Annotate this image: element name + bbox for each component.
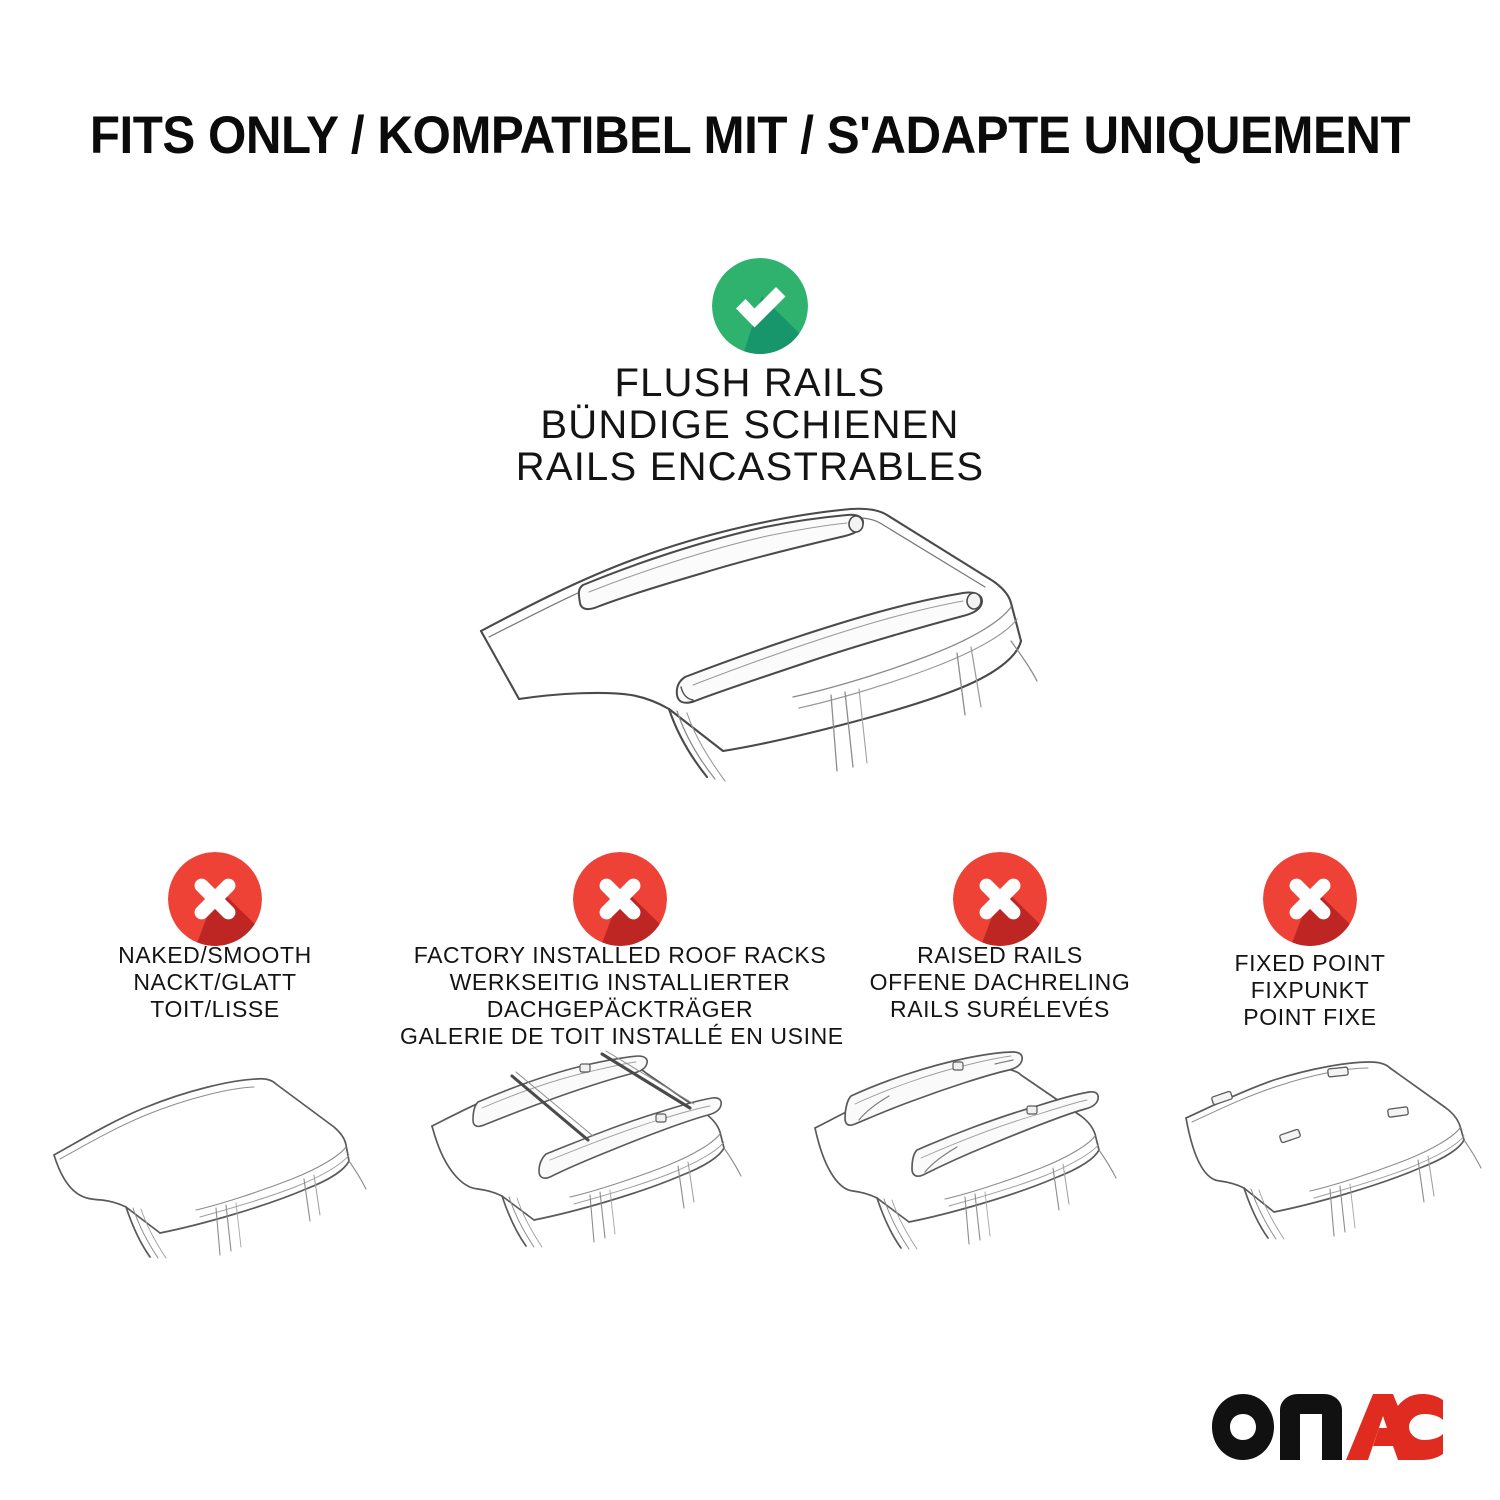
compatible-line-en: FLUSH RAILS xyxy=(0,362,1500,404)
incompatible-caption-3: FIXED POINT FIXPUNKT POINT FIXE xyxy=(1140,950,1480,1031)
caption-line: RAILS SURÉLEVÉS xyxy=(825,996,1175,1023)
caption-line: FACTORY INSTALLED ROOF RACKS xyxy=(400,942,840,969)
car-roof-factory-roof-racks-illustration xyxy=(428,1050,788,1270)
cross-mark-icon xyxy=(953,852,1047,946)
caption-line: RAISED RAILS xyxy=(825,942,1175,969)
car-roof-naked-smooth-illustration xyxy=(48,1055,398,1270)
incompatible-caption-0: NAKED/SMOOTH NACKT/GLATT TOIT/LISSE xyxy=(35,942,395,1023)
incompatible-caption-1: FACTORY INSTALLED ROOF RACKS WERKSEITIG … xyxy=(400,942,840,1050)
incompatible-caption-2: RAISED RAILS OFFENE DACHRELING RAILS SUR… xyxy=(825,942,1175,1023)
caption-line: FIXED POINT xyxy=(1140,950,1480,977)
caption-line: POINT FIXE xyxy=(1140,1004,1480,1031)
cross-mark-icon xyxy=(168,852,262,946)
check-mark-icon xyxy=(712,258,808,354)
logo-letter-o xyxy=(1212,1394,1274,1460)
caption-line: TOIT/LISSE xyxy=(35,996,395,1023)
compatible-line-fr: RAILS ENCASTRABLES xyxy=(0,446,1500,488)
check-glyph xyxy=(712,258,808,354)
cross-mark-icon xyxy=(1263,852,1357,946)
caption-line: DACHGEPÄCKTRÄGER xyxy=(400,996,840,1023)
caption-line: NACKT/GLATT xyxy=(35,969,395,996)
cross-mark-icon xyxy=(573,852,667,946)
cross-glyph xyxy=(168,852,262,946)
omac-logo xyxy=(1210,1390,1445,1462)
cross-glyph xyxy=(953,852,1047,946)
car-roof-flush-rails-illustration xyxy=(455,495,1075,795)
caption-line: NAKED/SMOOTH xyxy=(35,942,395,969)
logo-letter-m xyxy=(1280,1394,1342,1460)
cross-glyph xyxy=(573,852,667,946)
caption-line: OFFENE DACHRELING xyxy=(825,969,1175,996)
page-title: FITS ONLY / KOMPATIBEL MIT / S'ADAPTE UN… xyxy=(53,105,1448,166)
compatible-caption: FLUSH RAILS BÜNDIGE SCHIENEN RAILS ENCAS… xyxy=(0,362,1500,488)
caption-line: FIXPUNKT xyxy=(1140,977,1480,1004)
car-roof-raised-rails-illustration xyxy=(805,1050,1165,1270)
fitment-compatibility-graphic: FITS ONLY / KOMPATIBEL MIT / S'ADAPTE UN… xyxy=(0,0,1500,1500)
caption-line: WERKSEITIG INSTALLIERTER xyxy=(400,969,840,996)
cross-glyph xyxy=(1263,852,1357,946)
caption-line: GALERIE DE TOIT INSTALLÉ EN USINE xyxy=(400,1023,840,1050)
compatible-line-de: BÜNDIGE SCHIENEN xyxy=(0,404,1500,446)
car-roof-fixed-point-illustration xyxy=(1160,1052,1490,1267)
